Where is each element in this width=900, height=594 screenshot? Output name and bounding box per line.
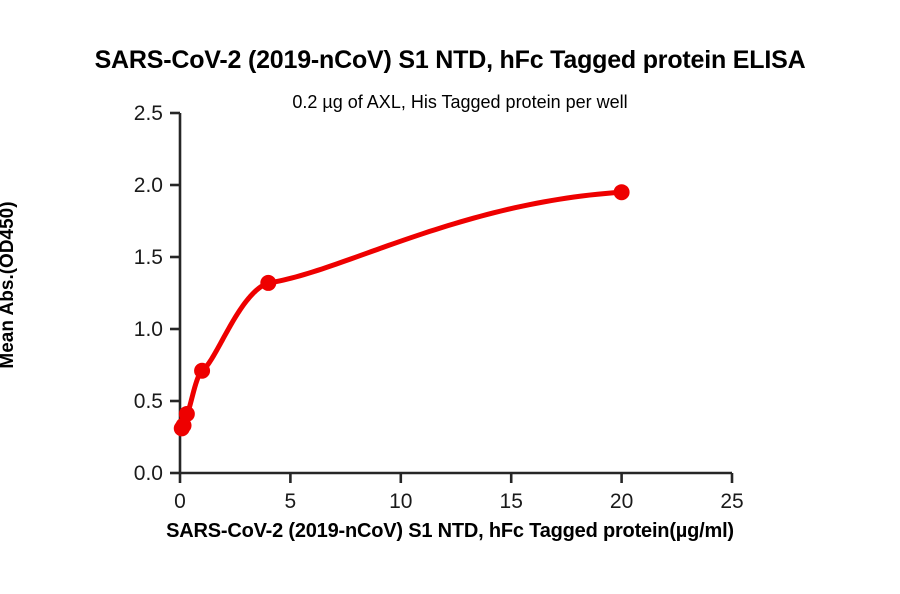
data-series <box>174 184 630 436</box>
x-tick-label: 20 <box>610 490 633 513</box>
x-tick-label: 10 <box>389 490 412 513</box>
elisa-binding-curve-figure: SARS-CoV-2 (2019-nCoV) S1 NTD, hFc Tagge… <box>0 0 900 594</box>
series-line <box>182 192 622 428</box>
data-point-marker <box>260 275 276 291</box>
data-point-marker <box>194 363 210 379</box>
x-tick-label: 0 <box>174 490 186 513</box>
y-tick-label: 2.5 <box>134 102 163 125</box>
y-tick-label: 0.0 <box>134 462 163 485</box>
data-point-marker <box>614 184 630 200</box>
x-tick-label: 5 <box>285 490 297 513</box>
y-tick-label: 0.5 <box>134 390 163 413</box>
axes <box>180 113 732 473</box>
y-axis-ticks: 0.00.51.01.52.02.5 <box>134 102 180 485</box>
y-tick-label: 2.0 <box>134 174 163 197</box>
y-tick-label: 1.0 <box>134 318 163 341</box>
x-axis-ticks: 0510152025 <box>174 473 744 513</box>
x-tick-label: 15 <box>500 490 523 513</box>
x-tick-label: 25 <box>720 490 743 513</box>
data-point-marker <box>179 406 195 422</box>
y-tick-label: 1.5 <box>134 246 163 269</box>
plot-area: 0.00.51.01.52.02.5 0510152025 <box>0 0 900 594</box>
